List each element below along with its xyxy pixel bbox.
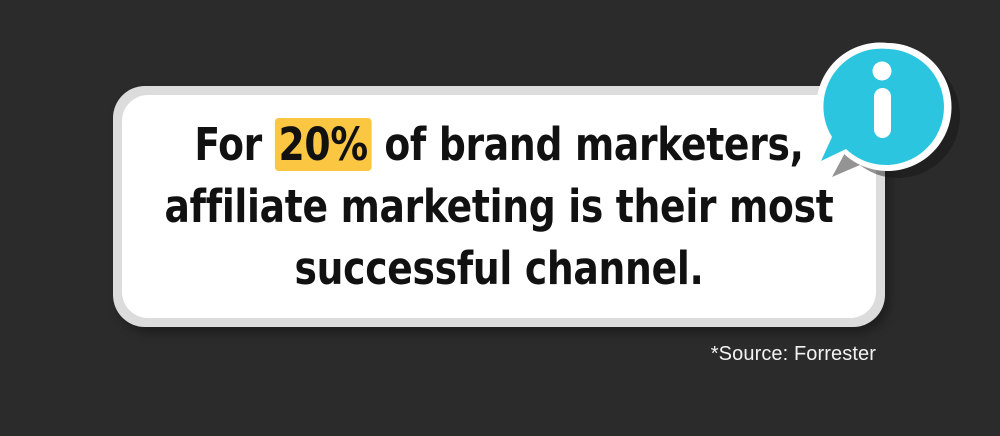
quote-line-1-before: For — [194, 118, 274, 171]
quote-line-3: successful channel. — [148, 238, 849, 300]
info-badge[interactable] — [806, 25, 966, 190]
quote-card-surface: For 20% of brand marketers, affiliate ma… — [122, 95, 876, 318]
quote-text: For 20% of brand marketers, affiliate ma… — [148, 114, 849, 300]
quote-line-1: For 20% of brand marketers, — [148, 114, 849, 176]
info-glyph-stem — [874, 88, 891, 138]
quote-highlight-percentage: 20% — [275, 118, 372, 171]
info-glyph-dot — [873, 62, 892, 81]
quote-line-1-after: of brand marketers, — [372, 118, 804, 171]
infographic-stage: For 20% of brand marketers, affiliate ma… — [0, 0, 1000, 436]
info-speech-bubble-icon[interactable] — [806, 25, 966, 190]
quote-line-2: affiliate marketing is their most — [148, 176, 849, 238]
source-footnote: *Source: Forrester — [0, 343, 1000, 366]
